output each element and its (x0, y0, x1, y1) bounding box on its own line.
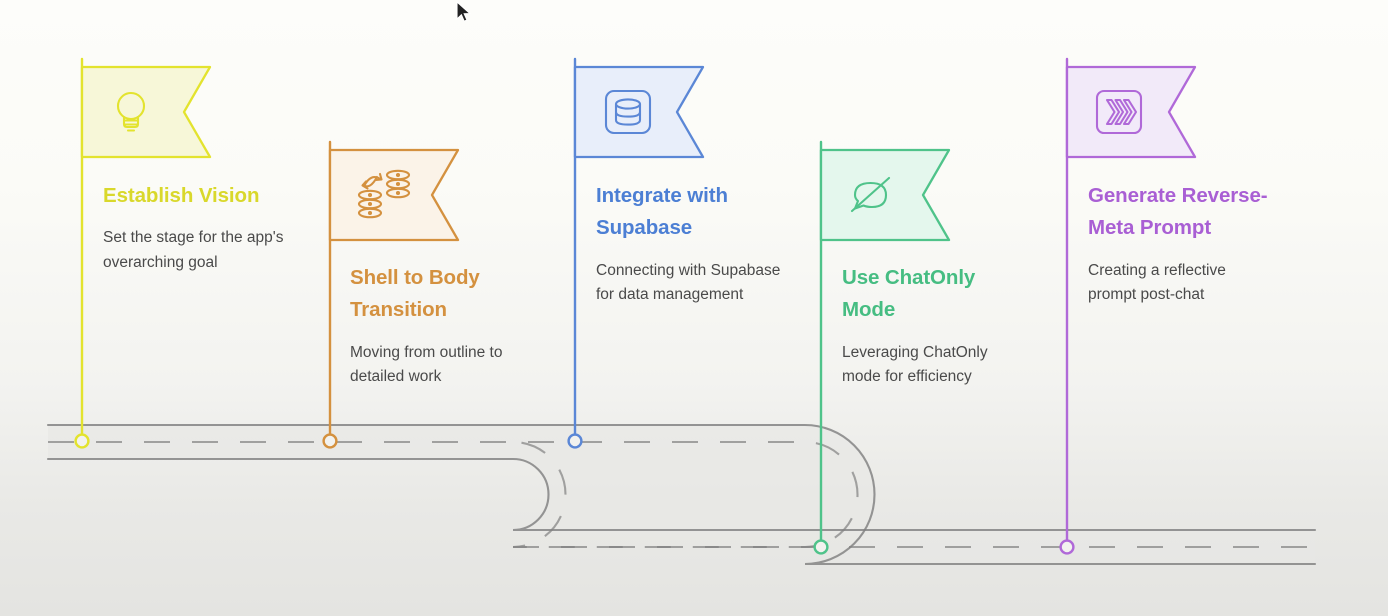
milestone-description: Creating a reflective prompt post-chat (1088, 259, 1273, 308)
milestone-flag-generate-reverse-meta-prompt (0, 59, 1388, 561)
milestone-text-generate-reverse-meta-prompt: Generate Reverse-Meta PromptCreating a r… (1088, 180, 1273, 308)
milestone-layer: Establish VisionSet the stage for the ap… (0, 0, 1388, 616)
milestone-title: Generate Reverse-Meta Prompt (1088, 180, 1273, 245)
roadmap-diagram: Establish VisionSet the stage for the ap… (0, 0, 1388, 616)
